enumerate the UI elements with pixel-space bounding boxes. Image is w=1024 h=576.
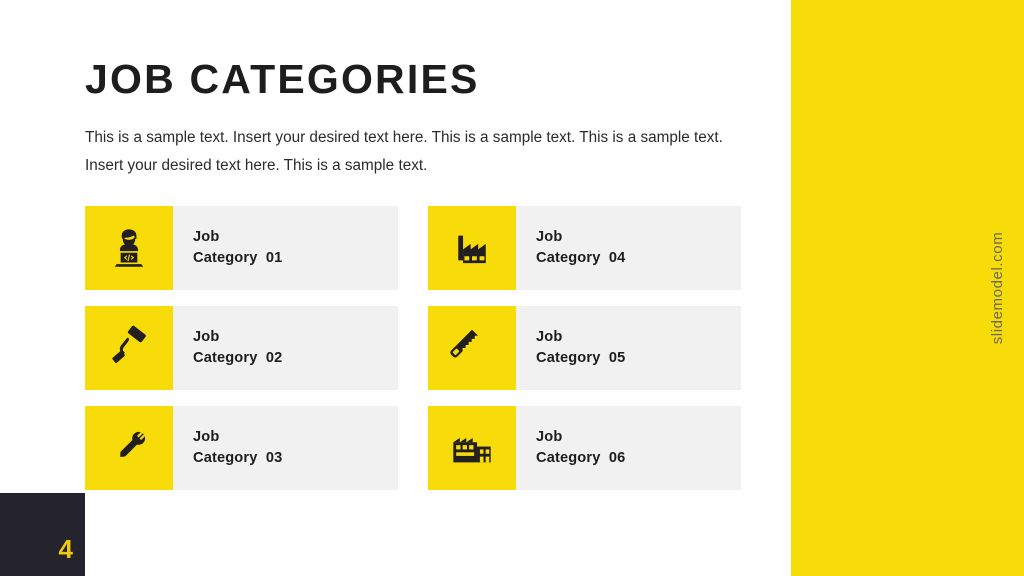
page-title: JOB CATEGORIES <box>85 57 480 102</box>
card-body: Job Category 01 <box>173 206 398 290</box>
card-label-line2: Category 03 <box>193 448 398 469</box>
card-label-line1: Job <box>193 327 398 348</box>
developer-laptop-icon <box>106 225 152 271</box>
card-label-line2: Category 05 <box>536 348 741 369</box>
job-category-card[interactable]: Job Category 06 <box>428 406 741 490</box>
wrench-icon <box>106 425 152 471</box>
card-label-line2: Category 01 <box>193 248 398 269</box>
card-body: Job Category 02 <box>173 306 398 390</box>
handsaw-icon <box>449 325 495 371</box>
card-body: Job Category 04 <box>516 206 741 290</box>
slide-number: 4 <box>59 536 73 562</box>
card-label-line1: Job <box>536 227 741 248</box>
job-category-card[interactable]: Job Category 03 <box>85 406 398 490</box>
job-category-card[interactable]: Job Category 01 <box>85 206 398 290</box>
card-body: Job Category 06 <box>516 406 741 490</box>
card-icon-tile <box>428 306 516 390</box>
slide-number-badge: 4 <box>0 493 85 576</box>
slide-canvas: slidemodel.com JOB CATEGORIES This is a … <box>0 0 1024 576</box>
job-category-card[interactable]: Job Category 04 <box>428 206 741 290</box>
card-icon-tile <box>85 406 173 490</box>
card-label-line1: Job <box>536 427 741 448</box>
factory-icon <box>450 226 494 270</box>
job-categories-grid: Job Category 01 Job Category <box>85 206 741 490</box>
paint-roller-icon <box>106 325 152 371</box>
card-icon-tile <box>85 206 173 290</box>
warehouse-icon <box>449 425 495 471</box>
card-label-line2: Category 02 <box>193 348 398 369</box>
watermark-text: slidemodel.com <box>989 232 1006 345</box>
card-label-line1: Job <box>193 227 398 248</box>
card-body: Job Category 03 <box>173 406 398 490</box>
intro-paragraph: This is a sample text. Insert your desir… <box>85 124 745 180</box>
card-icon-tile <box>428 406 516 490</box>
card-label-line1: Job <box>536 327 741 348</box>
right-accent-band: slidemodel.com <box>791 0 1024 576</box>
card-body: Job Category 05 <box>516 306 741 390</box>
job-category-card[interactable]: Job Category 02 <box>85 306 398 390</box>
card-label-line2: Category 04 <box>536 248 741 269</box>
card-label-line2: Category 06 <box>536 448 741 469</box>
job-category-card[interactable]: Job Category 05 <box>428 306 741 390</box>
card-icon-tile <box>85 306 173 390</box>
card-icon-tile <box>428 206 516 290</box>
card-label-line1: Job <box>193 427 398 448</box>
